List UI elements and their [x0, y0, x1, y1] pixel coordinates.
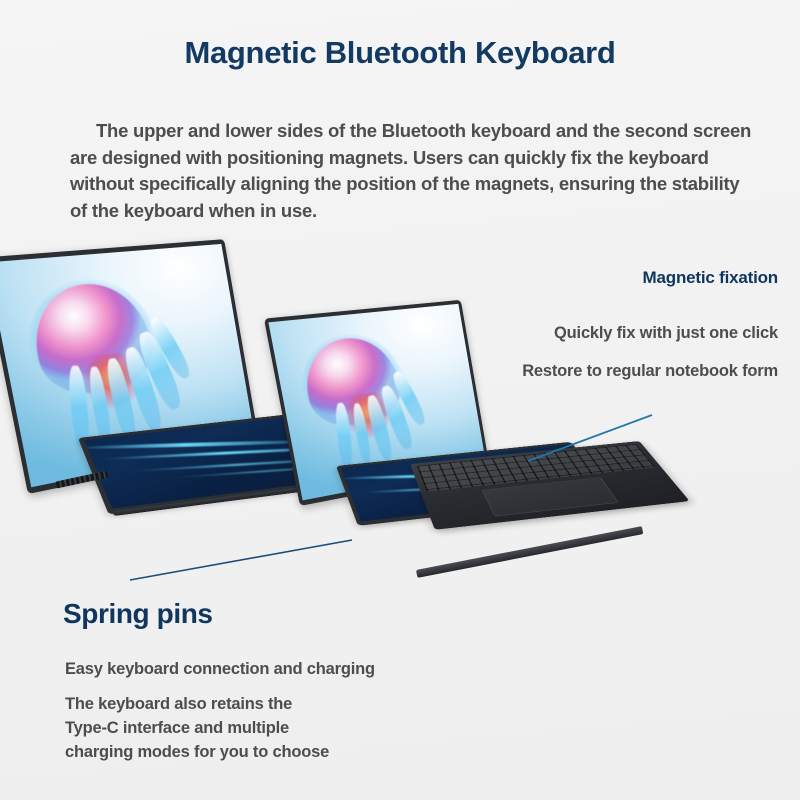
callout-spring-pins-detail: The keyboard also retains the Type-C int… [65, 692, 395, 764]
keyboard-front-edge [416, 526, 643, 578]
spring-detail-line-2: Type-C interface and multiple [65, 716, 395, 740]
spring-detail-line-3: charging modes for you to choose [65, 740, 395, 764]
callout-restore-notebook-text: Restore to regular notebook form [522, 362, 778, 381]
spring-detail-line-1: The keyboard also retains the [65, 692, 395, 716]
callout-spring-pins-subtitle: Easy keyboard connection and charging [65, 660, 375, 679]
product-marketing-page: Magnetic Bluetooth Keyboard The upper an… [0, 0, 800, 800]
right-laptop-with-keyboard [290, 318, 660, 588]
page-title: Magnetic Bluetooth Keyboard [0, 35, 800, 71]
callout-magnetic-fixation-heading: Magnetic fixation [643, 268, 778, 288]
callout-spring-pins-heading: Spring pins [63, 598, 213, 630]
intro-paragraph: The upper and lower sides of the Bluetoo… [70, 118, 760, 224]
callout-quick-fix-text: Quickly fix with just one click [554, 324, 778, 343]
